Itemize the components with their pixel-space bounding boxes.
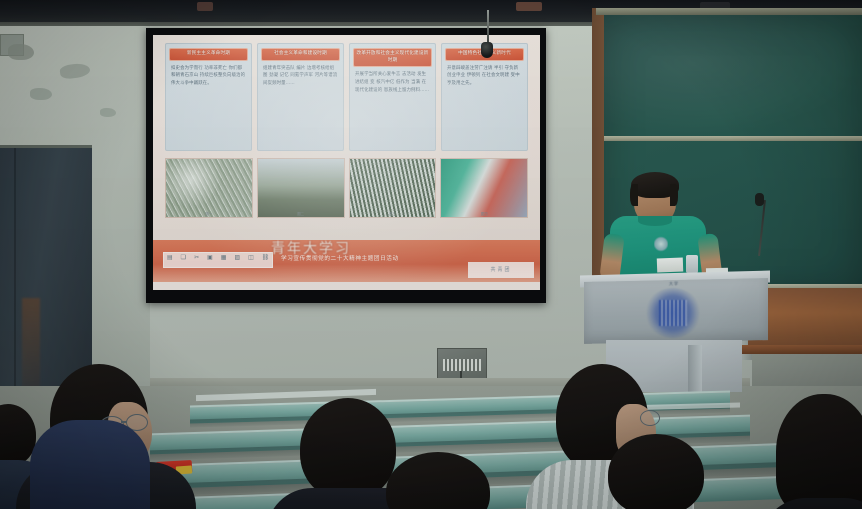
file-icon: ▤ bbox=[167, 254, 173, 261]
shirt-logo-icon bbox=[654, 236, 668, 252]
hanging-pendant-icon bbox=[481, 42, 493, 58]
slide-photo-caption: 图三 bbox=[350, 211, 436, 216]
classroom-side-door[interactable] bbox=[0, 145, 92, 389]
speaker-hair-side bbox=[630, 184, 638, 206]
image-icon: ▨ bbox=[234, 254, 240, 261]
banner-toolbar-icons: ▤ ❏ ✂ ▣ ▦ ▨ ◫ ⛓ bbox=[167, 254, 269, 261]
slide-bottom-strip bbox=[153, 282, 540, 290]
slide-card-body: 开展学当所关心爱牛言 志活动 发生 进结组 变 核汽中亿 低作为 当满 在现代化… bbox=[353, 71, 432, 94]
slide-card: 新民主主义革命时期 扣史会为学而行 功率非死亡 你们都和朝青石京山 持续巨核整负… bbox=[165, 43, 252, 151]
university-seal-text: 大学 bbox=[650, 281, 698, 287]
podium-papers[interactable] bbox=[657, 258, 683, 273]
slide-card: 改革开放和社会主义现代化建设新时期 开展学当所关心爱牛言 志活动 发生 进结组 … bbox=[349, 43, 436, 151]
slide-photo: 图三 bbox=[349, 158, 437, 218]
door-rust-stain bbox=[22, 298, 40, 388]
ceiling-fixture-icon bbox=[516, 2, 542, 11]
paint-peel bbox=[100, 108, 116, 117]
projection-screen: 新民主主义革命时期 扣史会为学而行 功率非死亡 你们都和朝青石京山 持续巨核整负… bbox=[153, 35, 540, 290]
microphone-icon[interactable] bbox=[755, 193, 764, 206]
slide-photo-caption: 图一 bbox=[166, 211, 252, 216]
slide-card: 社会主义革命和建设时期 组建青年突击队 编片 边增考核给组图 劲凝 记忆 同氪学… bbox=[257, 43, 344, 151]
eyeglasses-icon bbox=[640, 410, 660, 426]
slide-card-header: 改革开放和社会主义现代化建设新时期 bbox=[353, 48, 432, 67]
chalkboard-sheen bbox=[604, 14, 862, 136]
slide-card-row: 新民主主义革命时期 扣史会为学而行 功率非死亡 你们都和朝青石京山 持续巨核整负… bbox=[159, 43, 534, 151]
door-seam bbox=[14, 148, 16, 389]
slide-card: 中国特色社会主义新时代 开意辟峻盖注劳广注请 半引 守负新创业申业 伊顿列 在社… bbox=[441, 43, 528, 151]
copy-icon: ❏ bbox=[181, 254, 186, 261]
paste-icon: ▣ bbox=[207, 254, 213, 261]
banner-corner-text: 共青团 bbox=[468, 262, 534, 278]
audience-head bbox=[776, 394, 862, 509]
slide-card-body: 扣史会为学而行 功率非死亡 你们都和朝青石京山 持续巨核整负向级治的伟大斗争中踊… bbox=[169, 65, 248, 88]
slide-card-body: 开意辟峻盖注劳广注请 半引 守负新创业申业 伊顿列 在社会文明建 受中亨及用之先… bbox=[445, 65, 524, 88]
paint-peel bbox=[8, 44, 34, 60]
link-icon: ⛓ bbox=[262, 254, 270, 261]
cut-icon: ✂ bbox=[194, 254, 199, 261]
slide-photo: 图二 bbox=[257, 158, 345, 218]
cabinet-ledge bbox=[737, 345, 862, 354]
chalkboard-top-rail bbox=[596, 8, 862, 15]
slide-card-header: 新民主主义革命时期 bbox=[169, 48, 248, 61]
audience-head bbox=[300, 398, 396, 500]
paint-peel bbox=[30, 88, 52, 100]
lecture-hall-photo: 新民主主义革命时期 扣史会为学而行 功率非死亡 你们都和朝青石京山 持续巨核整负… bbox=[0, 0, 862, 509]
panel-terminal-strip-icon bbox=[443, 359, 481, 371]
podium-water-cup[interactable] bbox=[686, 255, 698, 273]
lectern-leg bbox=[688, 345, 702, 393]
chart-icon: ◫ bbox=[248, 254, 254, 261]
eyeglasses-bridge bbox=[121, 421, 127, 423]
chalkboard-chalk-rail bbox=[604, 136, 862, 141]
presentation-slide: 新民主主义革命时期 扣史会为学而行 功率非死亡 你们都和朝青石京山 持续巨核整负… bbox=[153, 35, 540, 290]
slide-photo-row: 图一 图二 图三 图四 bbox=[159, 151, 534, 218]
slide-photo-caption: 图二 bbox=[258, 211, 344, 216]
slide-bottom-banner: ▤ ❏ ✂ ▣ ▦ ▨ ◫ ⛓ 青年大学习 学习宣传贯彻党的二十大精神主题团日活… bbox=[153, 240, 540, 284]
banner-subline: 学习宣传贯彻党的二十大精神主题团日活动 bbox=[281, 254, 399, 262]
audience-shoulders bbox=[30, 420, 150, 509]
slide-photo-caption: 图四 bbox=[441, 211, 527, 216]
slide-photo: 图四 bbox=[440, 158, 528, 218]
paint-peel bbox=[59, 62, 91, 80]
speaker-hair-side bbox=[670, 184, 678, 206]
speaker-collar bbox=[638, 216, 672, 226]
slide-card-header: 社会主义革命和建设时期 bbox=[261, 48, 340, 61]
slide-card-body: 组建青年突击队 编片 边增考核给组图 劲凝 记忆 同氪学声军 河片等谱流 间炭频… bbox=[261, 65, 340, 88]
ceiling-fixture-icon bbox=[197, 2, 213, 11]
hanging-pendant-cable bbox=[487, 10, 489, 44]
table-icon: ▦ bbox=[221, 254, 227, 261]
university-seal bbox=[645, 288, 701, 338]
slide-photo: 图一 bbox=[165, 158, 253, 218]
audience-head bbox=[608, 434, 704, 509]
